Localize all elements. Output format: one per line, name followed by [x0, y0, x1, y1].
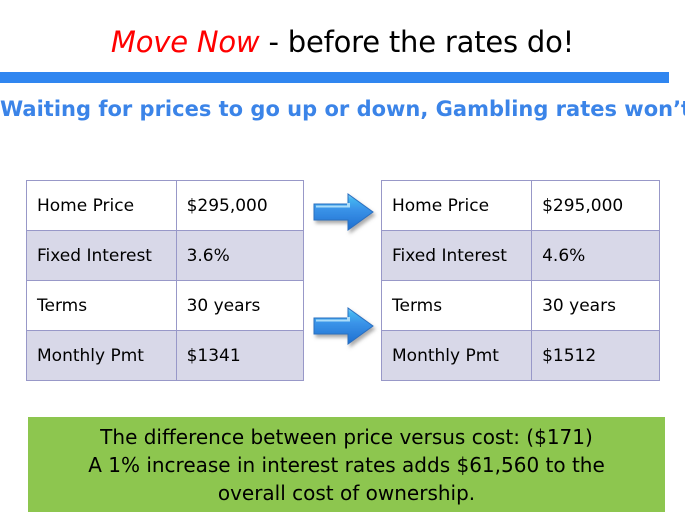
table-row: Terms 30 years — [382, 281, 660, 331]
future-rate-table: Home Price $295,000 Fixed Interest 4.6% … — [381, 180, 660, 381]
row-label: Home Price — [382, 181, 532, 231]
blue-divider-bar — [0, 72, 669, 83]
table-row: Fixed Interest 4.6% — [382, 231, 660, 281]
table-row: Fixed Interest 3.6% — [27, 231, 304, 281]
summary-callout-box: The difference between price versus cost… — [28, 417, 665, 512]
row-value: $1341 — [176, 331, 303, 381]
title-emphasis-text: Move Now — [111, 25, 260, 59]
row-value: 30 years — [532, 281, 660, 331]
right-arrow-icon — [312, 192, 375, 232]
row-label: Fixed Interest — [27, 231, 177, 281]
page-title: Move Now - before the rates do! — [0, 22, 685, 62]
subtitle-text: Waiting for prices to go up or down, Gam… — [0, 96, 685, 123]
row-value: $295,000 — [176, 181, 303, 231]
table-row: Terms 30 years — [27, 281, 304, 331]
right-arrow-icon — [312, 306, 375, 346]
row-label: Monthly Pmt — [382, 331, 532, 381]
row-value: $295,000 — [532, 181, 660, 231]
row-label: Fixed Interest — [382, 231, 532, 281]
row-value: 3.6% — [176, 231, 303, 281]
row-label: Terms — [27, 281, 177, 331]
title-rest-text: - before the rates do! — [259, 25, 574, 59]
row-label: Terms — [382, 281, 532, 331]
row-label: Home Price — [27, 181, 177, 231]
table-row: Monthly Pmt $1341 — [27, 331, 304, 381]
row-value: 30 years — [176, 281, 303, 331]
summary-callout-text: The difference between price versus cost… — [80, 423, 613, 507]
row-value: 4.6% — [532, 231, 660, 281]
current-rate-table: Home Price $295,000 Fixed Interest 3.6% … — [26, 180, 304, 381]
row-value: $1512 — [532, 331, 660, 381]
row-label: Monthly Pmt — [27, 331, 177, 381]
table-row: Monthly Pmt $1512 — [382, 331, 660, 381]
table-row: Home Price $295,000 — [382, 181, 660, 231]
table-row: Home Price $295,000 — [27, 181, 304, 231]
